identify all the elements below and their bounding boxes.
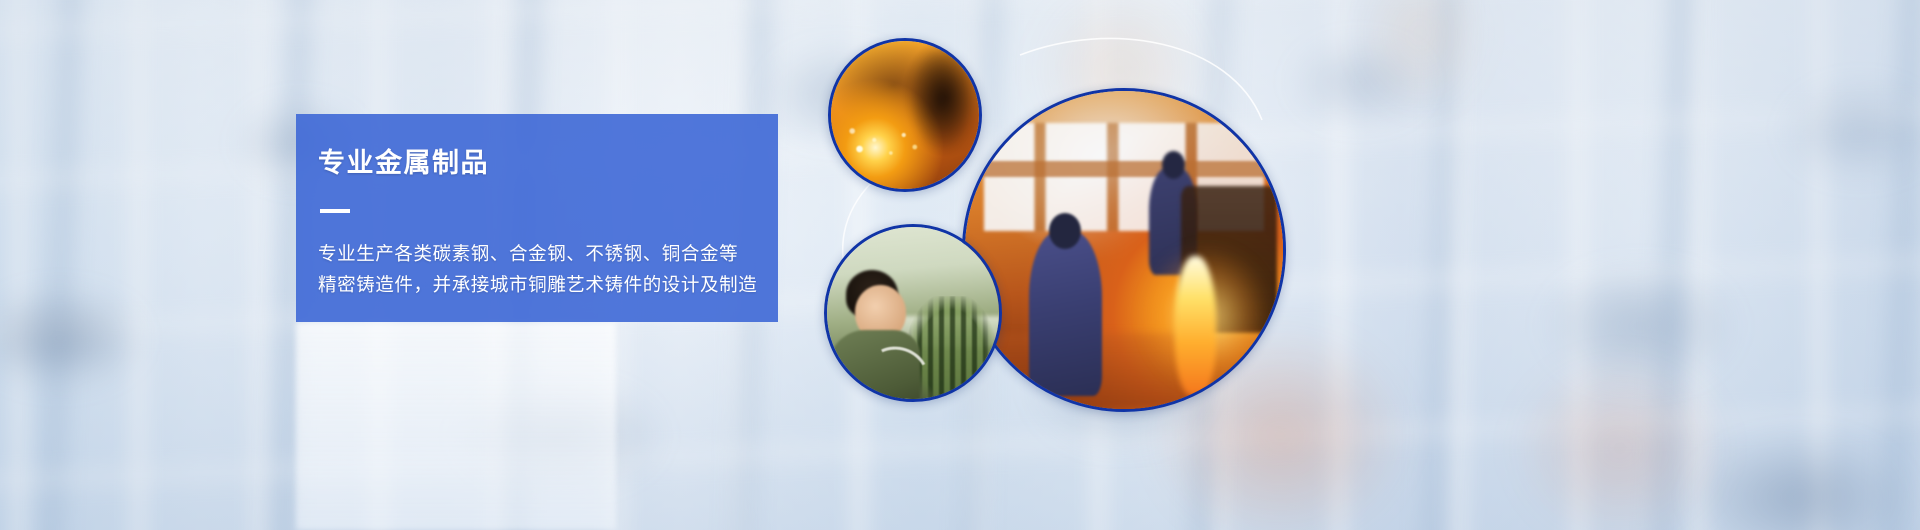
photo-foundry-pour xyxy=(962,88,1286,412)
foundry-molten-stream xyxy=(1175,256,1216,396)
worker-photo-content xyxy=(827,227,999,399)
foundry-photo-content xyxy=(965,91,1283,409)
photo-worker-assembly xyxy=(824,224,1002,402)
welding-spark-burst xyxy=(843,118,935,168)
foundry-worker-near xyxy=(1029,231,1102,396)
hero-banner: 专业金属制品 专业生产各类碳素钢、合金钢、不锈钢、铜合金等 精密铸造件，并承接城… xyxy=(0,0,1920,530)
welding-photo-content xyxy=(831,41,979,189)
foundry-beam xyxy=(978,161,1271,177)
photo-welding-sparks xyxy=(828,38,982,192)
